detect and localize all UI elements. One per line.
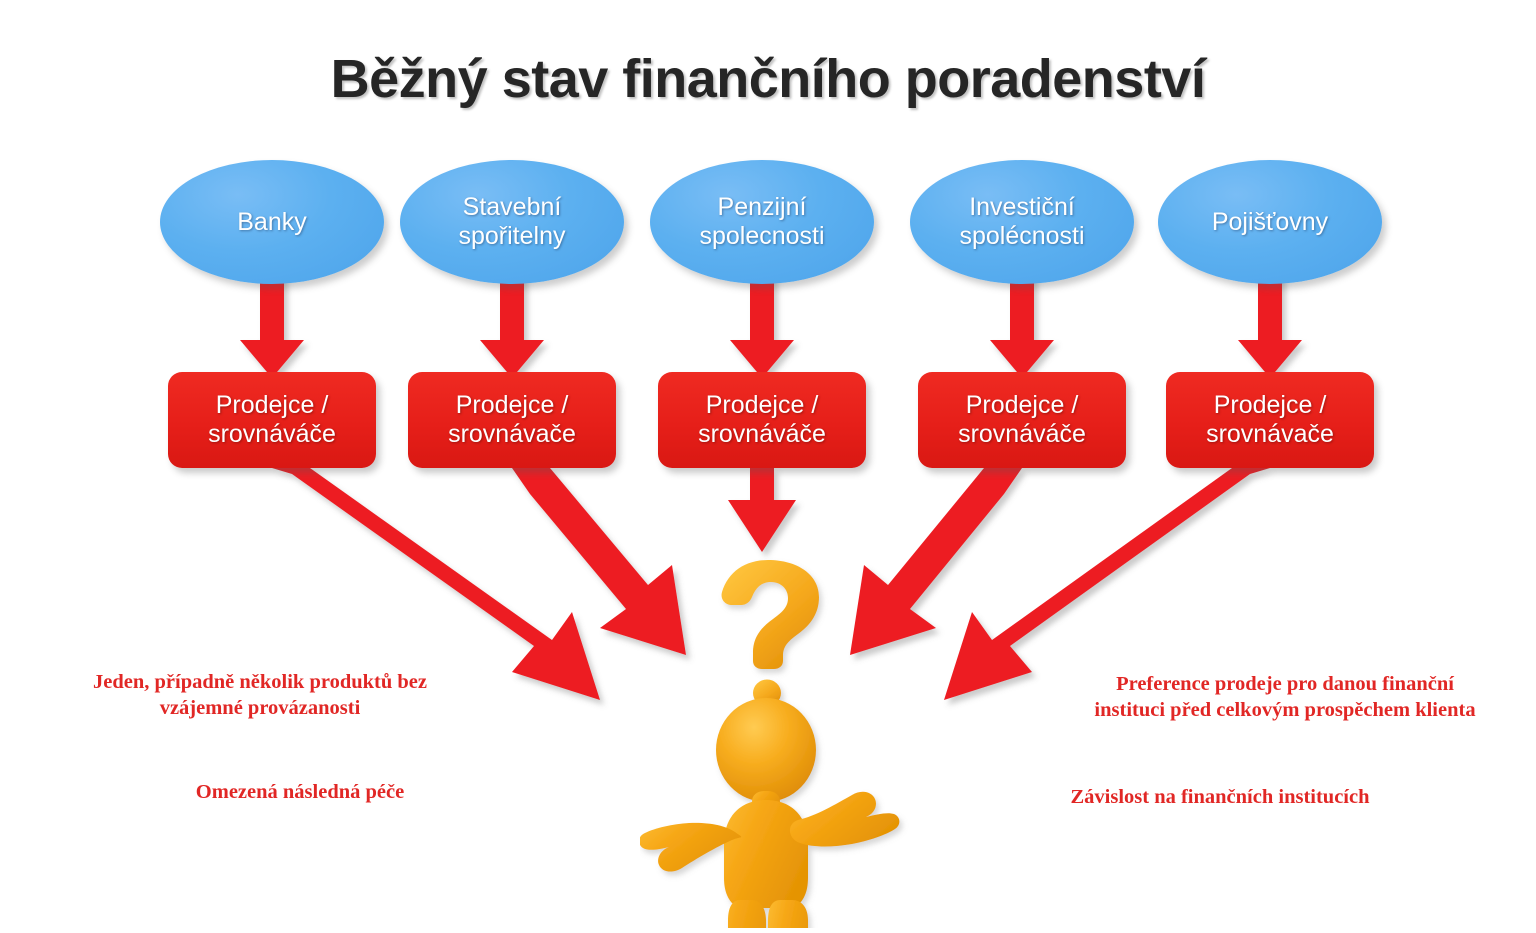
figure-torso [724,800,808,908]
source-label: Investiční spolécnosti [959,193,1084,251]
source-label: Penzijní spolecnosti [699,193,824,251]
source-node-penzijni-spolecnosti[interactable]: Penzijní spolecnosti [650,160,874,284]
arrow-box-to-center-5 [944,468,1270,700]
arrow-ellipse-to-box-4 [990,272,1054,378]
arrow-ellipse-to-box-5 [1238,272,1302,378]
figure-right-leg [768,900,808,928]
arrow-ellipse-to-box-1 [240,272,304,378]
seller-label: Prodejce / srovnáváče [208,391,336,449]
seller-label: Prodejce / srovnávače [1206,391,1334,449]
annotation-right-bottom: Závislost na finančních institucích [1020,785,1420,811]
seller-box-3[interactable]: Prodejce / srovnáváče [658,372,866,468]
figure-right-arm [790,792,899,847]
arrow-ellipse-to-box-2 [480,272,544,378]
seller-label: Prodejce / srovnávače [448,391,576,449]
confused-client-figure [640,548,910,928]
annotation-right-top: Preference prodeje pro danou finanční in… [1070,672,1500,723]
source-label: Banky [237,208,306,237]
annotation-left-bottom: Omezená následná péče [110,780,490,806]
seller-box-1[interactable]: Prodejce / srovnáváče [168,372,376,468]
seller-label: Prodejce / srovnáváče [958,391,1086,449]
seller-box-4[interactable]: Prodejce / srovnáváče [918,372,1126,468]
seller-label: Prodejce / srovnáváče [698,391,826,449]
diagram-canvas: Běžný stav finančního poradenství [0,0,1536,933]
seller-box-5[interactable]: Prodejce / srovnávače [1166,372,1374,468]
figure-head [716,698,816,802]
arrow-ellipse-to-box-3 [730,272,794,378]
source-node-banky[interactable]: Banky [160,160,384,284]
source-node-stavebni-sporitelny[interactable]: Stavební spořitelny [400,160,624,284]
source-node-investicni-spolecnosti[interactable]: Investiční spolécnosti [910,160,1134,284]
figure-left-leg [715,900,766,928]
page-title: Běžný stav finančního poradenství [0,48,1536,110]
arrow-box-to-center-1 [272,468,600,700]
seller-box-2[interactable]: Prodejce / srovnávače [408,372,616,468]
annotation-left-top: Jeden, případně několik produktů bez vzá… [60,670,460,721]
source-node-pojistovny[interactable]: Pojišťovny [1158,160,1382,284]
source-label: Pojišťovny [1212,208,1328,237]
question-mark-icon [722,560,819,707]
arrow-box-to-center-3 [728,468,796,552]
source-label: Stavební spořitelny [459,193,566,251]
